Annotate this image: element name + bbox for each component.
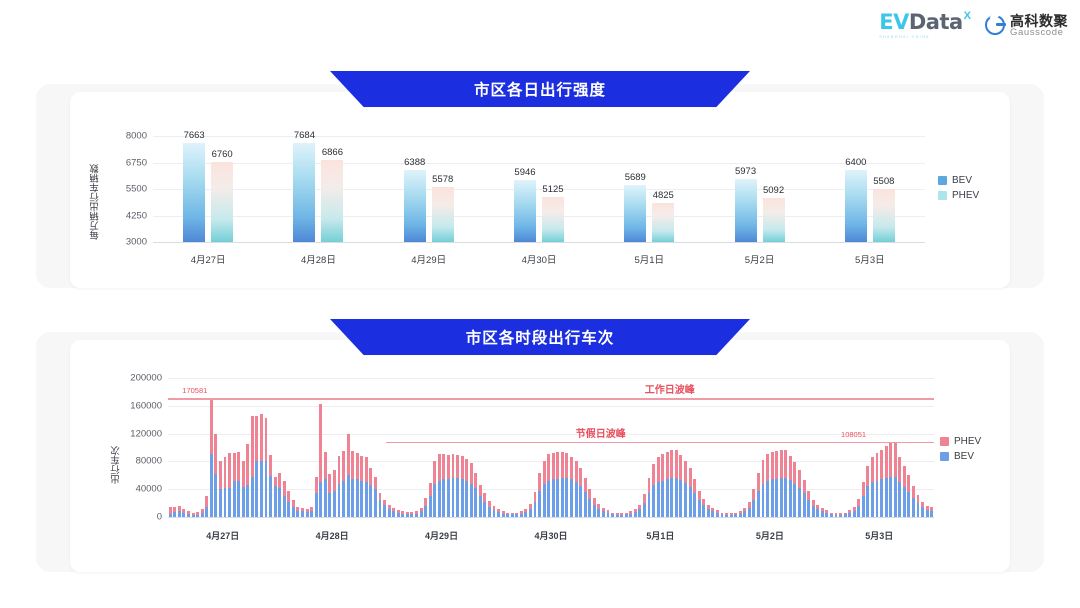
chart-2-segment-bev bbox=[420, 511, 423, 517]
chart-2-stacked-bar[interactable] bbox=[369, 468, 372, 517]
chart-2-segment-bev bbox=[315, 493, 318, 517]
chart-2-stacked-bar[interactable] bbox=[693, 479, 696, 517]
chart-2-stacked-bar[interactable] bbox=[866, 466, 869, 517]
chart-2-segment-phev bbox=[670, 450, 673, 478]
chart-2-stacked-bar[interactable] bbox=[347, 434, 350, 517]
chart-2-segment-phev bbox=[260, 414, 263, 461]
chart-2-segment-bev bbox=[274, 486, 277, 517]
chart-1-x-tick: 4月27日 bbox=[191, 252, 226, 266]
chart-2-segment-phev bbox=[397, 510, 400, 513]
chart-2-segment-bev bbox=[410, 514, 413, 517]
chart-2-segment-phev bbox=[575, 461, 578, 483]
chart-2-stacked-bar[interactable] bbox=[821, 508, 824, 517]
chart-2-stacked-bar[interactable] bbox=[360, 456, 363, 517]
chart-2-segment-phev bbox=[269, 455, 272, 476]
chart-2-stacked-bar[interactable] bbox=[401, 511, 404, 517]
chart-2-segment-bev bbox=[661, 481, 664, 517]
chart-2-segment-phev bbox=[374, 477, 377, 489]
chart-2-stacked-bar[interactable] bbox=[912, 486, 915, 517]
chart-2-segment-bev bbox=[379, 500, 382, 517]
chart-2-segment-phev bbox=[433, 461, 436, 483]
chart-2-stacked-bar[interactable] bbox=[926, 506, 929, 517]
chart-2-stacked-bar[interactable] bbox=[470, 463, 473, 517]
chart-2-stacked-bar[interactable] bbox=[876, 453, 879, 517]
chart-2-segment-bev bbox=[561, 478, 564, 517]
chart-2-stacked-bar[interactable] bbox=[287, 491, 290, 517]
chart-2-stacked-bar[interactable] bbox=[429, 483, 432, 517]
chart-2-stacked-bar[interactable] bbox=[374, 477, 377, 517]
chart-2-segment-phev bbox=[752, 489, 755, 500]
chart-2-stacked-bar[interactable] bbox=[365, 457, 368, 517]
chart-1-bar-bev[interactable] bbox=[293, 143, 315, 242]
chart-2-stacked-bar[interactable] bbox=[424, 498, 427, 517]
chart-2-segment-phev bbox=[233, 453, 236, 481]
chart-2-stacked-bar[interactable] bbox=[648, 478, 651, 517]
chart-2-segment-phev bbox=[497, 509, 500, 512]
chart-2-stacked-bar[interactable] bbox=[652, 464, 655, 518]
chart-2-segment-phev bbox=[830, 513, 833, 515]
chart-2-stacked-bar[interactable] bbox=[561, 452, 564, 517]
chart-1-bar-phev[interactable] bbox=[873, 189, 895, 242]
chart-2-segment-bev bbox=[675, 478, 678, 517]
chart-2-y-tick: 120000 bbox=[130, 428, 162, 439]
chart-2-stacked-bar[interactable] bbox=[338, 456, 341, 517]
chart-2-segment-bev bbox=[388, 509, 391, 517]
chart-2-segment-phev bbox=[643, 494, 646, 503]
chart-2-segment-phev bbox=[310, 507, 313, 511]
chart-2-stacked-bar[interactable] bbox=[812, 500, 815, 517]
chart-2-segment-bev bbox=[907, 492, 910, 517]
chart-2-stacked-bar[interactable] bbox=[607, 510, 610, 517]
chart-2-segment-phev bbox=[821, 508, 824, 511]
chart-2-segment-bev bbox=[242, 487, 245, 517]
chart-2-segment-phev bbox=[775, 451, 778, 479]
chart-2-stacked-bar[interactable] bbox=[579, 468, 582, 517]
chart-2-stacked-bar[interactable] bbox=[292, 500, 295, 517]
chart-1-bar-phev[interactable] bbox=[652, 203, 674, 242]
chart-2-segment-bev bbox=[260, 461, 263, 517]
chart-2-segment-phev bbox=[789, 456, 792, 480]
chart-2-segment-bev bbox=[169, 514, 172, 517]
chart-2-stacked-bar[interactable] bbox=[593, 498, 596, 517]
chart-1-bar-label: 5125 bbox=[542, 184, 563, 195]
chart-2-stacked-bar[interactable] bbox=[885, 446, 888, 517]
chart-2-stacked-bar[interactable] bbox=[793, 462, 796, 517]
chart-2-segment-bev bbox=[780, 478, 783, 517]
chart-1-bar-phev[interactable] bbox=[542, 197, 564, 242]
chart-2-stacked-bar[interactable] bbox=[807, 491, 810, 517]
chart-2-stacked-bar[interactable] bbox=[789, 456, 792, 517]
chart-2-stacked-bar[interactable] bbox=[392, 508, 395, 517]
chart-2-segment-phev bbox=[365, 457, 368, 482]
chart-2-stacked-bar[interactable] bbox=[324, 452, 327, 517]
chart-2-stacked-bar[interactable] bbox=[730, 513, 733, 517]
chart-2-segment-bev bbox=[356, 479, 359, 517]
chart-2-stacked-bar[interactable] bbox=[602, 508, 605, 517]
chart-2-stacked-bar[interactable] bbox=[388, 505, 391, 517]
chart-2-segment-bev bbox=[255, 461, 258, 517]
chart-2-stacked-bar[interactable] bbox=[930, 507, 933, 517]
chart-2-stacked-bar[interactable] bbox=[205, 496, 208, 517]
chart-2-stacked-bar[interactable] bbox=[684, 461, 687, 517]
chart-1-bar-bev[interactable] bbox=[514, 180, 536, 242]
chart-2-stacked-bar[interactable] bbox=[356, 453, 359, 517]
chart-2-stacked-bar[interactable] bbox=[379, 493, 382, 517]
chart-2-stacked-bar[interactable] bbox=[192, 513, 195, 517]
chart-2-stacked-bar[interactable] bbox=[739, 511, 742, 517]
chart-2-stacked-bar[interactable] bbox=[420, 508, 423, 517]
chart-2-segment-bev bbox=[205, 507, 208, 517]
chart-2-stacked-bar[interactable] bbox=[556, 452, 559, 517]
chart-2-stacked-bar[interactable] bbox=[711, 508, 714, 517]
chart-2-stacked-bar[interactable] bbox=[433, 461, 436, 517]
chart-2-stacked-bar[interactable] bbox=[406, 512, 409, 517]
chart-2-stacked-bar[interactable] bbox=[173, 507, 176, 517]
chart-2-stacked-bar[interactable] bbox=[265, 418, 268, 517]
annotation-label-holiday-peak: 节假日波峰 bbox=[576, 425, 626, 440]
chart-2-stacked-bar[interactable] bbox=[511, 512, 514, 517]
chart-2-segment-phev bbox=[410, 512, 413, 514]
chart-2-stacked-bar[interactable] bbox=[328, 474, 331, 517]
chart-2-segment-bev bbox=[638, 509, 641, 517]
chart-2-stacked-bar[interactable] bbox=[661, 454, 664, 517]
chart-1-bar-phev[interactable] bbox=[321, 160, 343, 242]
chart-2-segment-bev bbox=[912, 498, 915, 517]
chart-2-segment-phev bbox=[634, 509, 637, 512]
chart-2-stacked-bar[interactable] bbox=[306, 509, 309, 517]
chart-2-segment-phev bbox=[196, 512, 199, 514]
legend-swatch-icon bbox=[938, 176, 947, 185]
chart-2-stacked-bar[interactable] bbox=[315, 477, 318, 517]
chart-2-stacked-bar[interactable] bbox=[529, 504, 532, 517]
chart-2-stacked-bar[interactable] bbox=[670, 450, 673, 517]
chart-2-stacked-bar[interactable] bbox=[538, 473, 541, 517]
chart-2-stacked-bar[interactable] bbox=[862, 482, 865, 517]
chart-2-stacked-bar[interactable] bbox=[301, 508, 304, 517]
chart-2-segment-phev bbox=[907, 475, 910, 492]
chart-2-stacked-bar[interactable] bbox=[743, 508, 746, 517]
chart-2-segment-bev bbox=[876, 481, 879, 517]
chart-2-segment-bev bbox=[821, 511, 824, 517]
chart-2-segment-phev bbox=[292, 500, 295, 507]
chart-2-stacked-bar[interactable] bbox=[233, 453, 236, 517]
chart-2-stacked-bar[interactable] bbox=[278, 473, 281, 517]
chart-2-segment-phev bbox=[648, 478, 651, 493]
chart-2-stacked-bar[interactable] bbox=[716, 510, 719, 517]
chart-2-stacked-bar[interactable] bbox=[310, 507, 313, 517]
chart-2-segment-phev bbox=[780, 450, 783, 478]
chart-2-stacked-bar[interactable] bbox=[319, 404, 322, 517]
chart-2-stacked-bar[interactable] bbox=[853, 507, 856, 517]
chart-2-stacked-bar[interactable] bbox=[611, 512, 614, 517]
chart-2-stacked-bar[interactable] bbox=[465, 459, 468, 517]
chart-2-stacked-bar[interactable] bbox=[780, 450, 783, 517]
logo-bar: EVData X SHANGHAI CHINA 高科数聚 Gausscode bbox=[879, 12, 1068, 39]
chart-2-stacked-bar[interactable] bbox=[657, 457, 660, 517]
chart-2-stacked-bar[interactable] bbox=[237, 452, 240, 517]
chart-2-stacked-bar[interactable] bbox=[766, 454, 769, 517]
chart-2-stacked-bar[interactable] bbox=[588, 489, 591, 517]
chart-1-bar-label: 6866 bbox=[322, 147, 343, 158]
gausscode-name-en: Gausscode bbox=[1010, 28, 1068, 38]
chart-2-segment-phev bbox=[716, 510, 719, 513]
chart-2-segment-phev bbox=[315, 477, 318, 494]
chart-2-stacked-bar[interactable] bbox=[844, 512, 847, 517]
chart-2-segment-bev bbox=[438, 481, 441, 517]
legend-item[interactable]: BEV bbox=[940, 451, 981, 462]
chart-2-segment-bev bbox=[597, 509, 600, 517]
chart-2-segment-phev bbox=[661, 454, 664, 480]
chart-2-segment-bev bbox=[301, 511, 304, 517]
chart-2-segment-phev bbox=[702, 499, 705, 505]
evdata-logo-subtitle: SHANGHAI CHINA bbox=[879, 35, 930, 39]
chart-2-segment-phev bbox=[684, 461, 687, 483]
chart-2-segment-bev bbox=[406, 514, 409, 517]
chart-2-stacked-bar[interactable] bbox=[260, 414, 263, 517]
chart-2-stacked-bar[interactable] bbox=[415, 511, 418, 517]
chart-2-segment-bev bbox=[246, 485, 249, 517]
chart-2-segment-bev bbox=[511, 514, 514, 517]
chart-2-stacked-bar[interactable] bbox=[543, 461, 546, 517]
chart-2-segment-bev bbox=[889, 477, 892, 517]
chart-2-stacked-bar[interactable] bbox=[342, 451, 345, 517]
chart-2-stacked-bar[interactable] bbox=[502, 511, 505, 517]
chart-2-segment-phev bbox=[255, 416, 258, 461]
chart-2-stacked-bar[interactable] bbox=[520, 511, 523, 517]
chart-2-stacked-bar[interactable] bbox=[452, 454, 455, 517]
chart-2-segment-bev bbox=[579, 486, 582, 517]
chart-2-stacked-bar[interactable] bbox=[524, 509, 527, 517]
chart-2-stacked-bar[interactable] bbox=[575, 461, 578, 517]
chart-2-stacked-bar[interactable] bbox=[597, 504, 600, 517]
chart-2-segment-bev bbox=[214, 474, 217, 517]
chart-1-bar-phev[interactable] bbox=[432, 187, 454, 242]
chart-2-stacked-bar[interactable] bbox=[839, 513, 842, 517]
chart-2-stacked-bar[interactable] bbox=[889, 442, 892, 517]
chart-2-stacked-bar[interactable] bbox=[734, 512, 737, 517]
legend-item[interactable]: PHEV bbox=[940, 436, 981, 447]
chart-2-stacked-bar[interactable] bbox=[775, 451, 778, 517]
chart-2-segment-bev bbox=[757, 491, 760, 517]
chart-2-stacked-bar[interactable] bbox=[246, 444, 249, 517]
x-axis-line bbox=[153, 242, 925, 243]
chart-2-stacked-bar[interactable] bbox=[803, 480, 806, 517]
chart-2-stacked-bar[interactable] bbox=[438, 454, 441, 517]
chart-2-stacked-bar[interactable] bbox=[848, 510, 851, 517]
chart-2-stacked-bar[interactable] bbox=[196, 512, 199, 517]
chart-2-stacked-bar[interactable] bbox=[178, 506, 181, 517]
chart-2-stacked-bar[interactable] bbox=[201, 509, 204, 517]
chart-2-stacked-bar[interactable] bbox=[917, 495, 920, 517]
legend-label: BEV bbox=[952, 175, 972, 186]
chart-2-stacked-bar[interactable] bbox=[835, 513, 838, 517]
chart-2-stacked-bar[interactable] bbox=[771, 452, 774, 517]
chart-2-stacked-bar[interactable] bbox=[679, 455, 682, 517]
chart-2-stacked-bar[interactable] bbox=[228, 453, 231, 517]
chart-2-stacked-bar[interactable] bbox=[921, 502, 924, 517]
gridline bbox=[153, 189, 925, 190]
chart-2-stacked-bar[interactable] bbox=[798, 470, 801, 517]
chart-2-stacked-bar[interactable] bbox=[570, 457, 573, 517]
chart-2-stacked-bar[interactable] bbox=[616, 513, 619, 517]
chart-1-bar-bev[interactable] bbox=[183, 143, 205, 242]
chart-2-segment-bev bbox=[771, 479, 774, 517]
chart-2-stacked-bar[interactable] bbox=[871, 457, 874, 517]
chart-1-bar-bev[interactable] bbox=[404, 170, 426, 242]
chart-2-stacked-bar[interactable] bbox=[625, 512, 628, 517]
chart-2-stacked-bar[interactable] bbox=[634, 509, 637, 517]
chart-2-stacked-bar[interactable] bbox=[816, 505, 819, 517]
chart-2-stacked-bar[interactable] bbox=[219, 461, 222, 517]
chart-2-stacked-bar[interactable] bbox=[447, 455, 450, 517]
chart-2-segment-bev bbox=[812, 506, 815, 517]
chart-2-stacked-bar[interactable] bbox=[169, 507, 172, 517]
chart-1-bar-bev[interactable] bbox=[845, 170, 867, 242]
chart-2-segment-phev bbox=[278, 473, 281, 488]
chart-2-stacked-bar[interactable] bbox=[214, 434, 217, 517]
chart-2-stacked-bar[interactable] bbox=[497, 509, 500, 517]
chart-2-stacked-bar[interactable] bbox=[251, 416, 254, 517]
chart-2-segment-phev bbox=[798, 470, 801, 488]
chart-2-segment-phev bbox=[515, 513, 518, 515]
chart-2-stacked-bar[interactable] bbox=[442, 454, 445, 517]
chart-2-stacked-bar[interactable] bbox=[898, 457, 901, 517]
chart-2-stacked-bar[interactable] bbox=[187, 511, 190, 517]
chart-2-stacked-bar[interactable] bbox=[479, 485, 482, 517]
chart-2-stacked-bar[interactable] bbox=[565, 453, 568, 517]
chart-2-segment-phev bbox=[420, 508, 423, 511]
chart-2-segment-bev bbox=[679, 480, 682, 517]
chart-2-stacked-bar[interactable] bbox=[903, 466, 906, 517]
chart-2-segment-bev bbox=[707, 509, 710, 517]
chart-2-stacked-bar[interactable] bbox=[721, 512, 724, 517]
chart-1-bar-phev[interactable] bbox=[763, 198, 785, 242]
chart-2-segment-phev bbox=[543, 461, 546, 484]
chart-2-stacked-bar[interactable] bbox=[784, 450, 787, 517]
chart-2-stacked-bar[interactable] bbox=[506, 512, 509, 517]
chart-2-stacked-bar[interactable] bbox=[488, 501, 491, 517]
chart-1-bar-phev[interactable] bbox=[211, 162, 233, 242]
chart-2-segment-bev bbox=[752, 500, 755, 517]
chart-2-stacked-bar[interactable] bbox=[702, 499, 705, 517]
chart-2-stacked-bar[interactable] bbox=[584, 478, 587, 517]
chart-2-stacked-bar[interactable] bbox=[461, 456, 464, 517]
chart-2-segment-bev bbox=[670, 478, 673, 517]
chart-2-stacked-bar[interactable] bbox=[456, 455, 459, 517]
chart-2-segment-bev bbox=[871, 482, 874, 517]
evdata-logo: EVData X SHANGHAI CHINA bbox=[879, 12, 971, 39]
chart-2-segment-phev bbox=[379, 493, 382, 500]
chart-2-segment-bev bbox=[192, 515, 195, 517]
chart-2-segment-bev bbox=[844, 514, 847, 517]
chart-2-stacked-bar[interactable] bbox=[762, 460, 765, 517]
chart-2-stacked-bar[interactable] bbox=[410, 512, 413, 517]
evdata-logo-e: E bbox=[879, 10, 893, 34]
chart-2-stacked-bar[interactable] bbox=[689, 468, 692, 517]
chart-2-segment-bev bbox=[310, 511, 313, 517]
chart-1-bar-label: 7684 bbox=[294, 130, 315, 141]
chart-2-segment-bev bbox=[515, 514, 518, 517]
chart-2-stacked-bar[interactable] bbox=[757, 473, 760, 517]
chart-2-segment-phev bbox=[620, 513, 623, 514]
chart-2-segment-bev bbox=[862, 496, 865, 517]
chart-2-stacked-bar[interactable] bbox=[493, 506, 496, 517]
chart-2-stacked-bar[interactable] bbox=[515, 512, 518, 517]
chart-2-segment-phev bbox=[461, 456, 464, 480]
legend-item[interactable]: PHEV bbox=[938, 190, 979, 201]
chart-2-stacked-bar[interactable] bbox=[483, 493, 486, 517]
chart-2-segment-phev bbox=[169, 507, 172, 515]
chart-2-segment-phev bbox=[871, 457, 874, 483]
chart-2-stacked-bar[interactable] bbox=[534, 492, 537, 517]
chart-2-stacked-bar[interactable] bbox=[296, 507, 299, 517]
chart-2-stacked-bar[interactable] bbox=[707, 505, 710, 517]
chart-2-stacked-bar[interactable] bbox=[242, 461, 245, 517]
chart-2-stacked-bar[interactable] bbox=[210, 398, 213, 517]
chart-2-segment-phev bbox=[173, 507, 176, 512]
chart-2-segment-bev bbox=[588, 499, 591, 517]
chart-2-stacked-bar[interactable] bbox=[274, 477, 277, 517]
chart-2-segment-bev bbox=[333, 491, 336, 517]
chart-2-segment-bev bbox=[625, 514, 628, 517]
chart-2-stacked-bar[interactable] bbox=[752, 489, 755, 517]
chart-2-stacked-bar[interactable] bbox=[552, 453, 555, 517]
chart-2-stacked-bar[interactable] bbox=[474, 473, 477, 517]
chart-2-stacked-bar[interactable] bbox=[224, 457, 227, 517]
chart-2-segment-phev bbox=[283, 481, 286, 496]
chart-2-stacked-bar[interactable] bbox=[880, 450, 883, 517]
chart-2-stacked-bar[interactable] bbox=[894, 442, 897, 517]
chart-2-stacked-bar[interactable] bbox=[182, 509, 185, 517]
chart-2-stacked-bar[interactable] bbox=[547, 454, 550, 517]
chart-2-stacked-bar[interactable] bbox=[351, 451, 354, 517]
chart-2-stacked-bar[interactable] bbox=[383, 500, 386, 517]
chart-2-stacked-bar[interactable] bbox=[255, 416, 258, 517]
chart-2-segment-phev bbox=[479, 485, 482, 496]
chart-2-stacked-bar[interactable] bbox=[675, 450, 678, 517]
chart-2-stacked-bar[interactable] bbox=[825, 510, 828, 517]
chart-2-segment-bev bbox=[711, 511, 714, 517]
chart-1-bar-bev[interactable] bbox=[624, 185, 646, 242]
chart-2-segment-phev bbox=[812, 500, 815, 506]
chart-2-segment-phev bbox=[383, 500, 386, 505]
chart-2-stacked-bar[interactable] bbox=[698, 491, 701, 517]
chart-2-stacked-bar[interactable] bbox=[620, 513, 623, 517]
chart-2-segment-phev bbox=[930, 507, 933, 511]
chart-2-segment-phev bbox=[360, 456, 363, 481]
chart-2-stacked-bar[interactable] bbox=[725, 513, 728, 517]
chart-2-stacked-bar[interactable] bbox=[397, 510, 400, 517]
chart-2-stacked-bar[interactable] bbox=[857, 499, 860, 517]
chart-2-stacked-bar[interactable] bbox=[830, 512, 833, 517]
chart-2-segment-phev bbox=[456, 455, 459, 478]
chart-2-segment-phev bbox=[210, 398, 213, 454]
chart-2-stacked-bar[interactable] bbox=[638, 505, 641, 517]
chart-2-stacked-bar[interactable] bbox=[283, 481, 286, 517]
chart-2-segment-phev bbox=[351, 451, 354, 479]
chart-2-segment-phev bbox=[730, 513, 733, 514]
chart-2-stacked-bar[interactable] bbox=[643, 494, 646, 517]
chart-2-segment-phev bbox=[839, 513, 842, 514]
chart-2-stacked-bar[interactable] bbox=[333, 470, 336, 517]
chart-2-stacked-bar[interactable] bbox=[629, 511, 632, 517]
chart-2-stacked-bar[interactable] bbox=[269, 455, 272, 517]
legend-item[interactable]: BEV bbox=[938, 175, 979, 186]
chart-2-stacked-bar[interactable] bbox=[666, 452, 669, 517]
chart-2-stacked-bar[interactable] bbox=[748, 502, 751, 517]
chart-2-stacked-bar[interactable] bbox=[907, 475, 910, 517]
chart-1-bar-bev[interactable] bbox=[735, 179, 757, 242]
